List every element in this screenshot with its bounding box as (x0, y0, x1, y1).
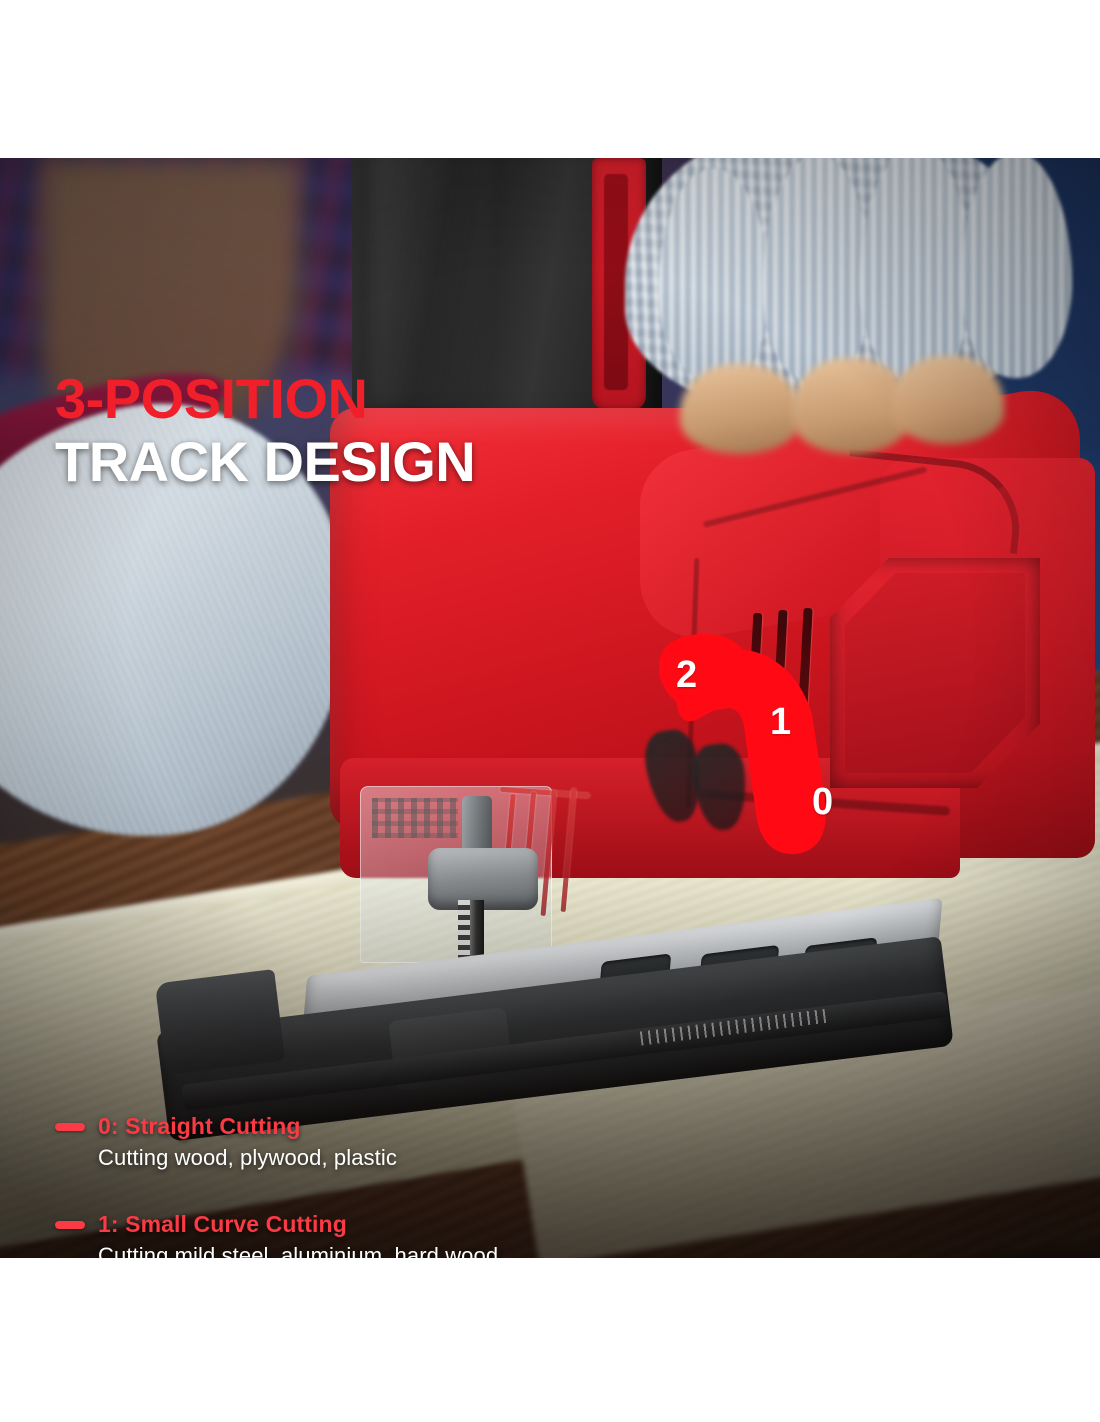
feature-item: 1: Small Curve Cutting Cutting mild stee… (55, 1211, 755, 1258)
feature-heading: 0: Straight Cutting (55, 1113, 755, 1140)
product-feature-image: 2 1 0 3-POSITION TRACK DESIGN 0: Straigh… (0, 0, 1100, 1422)
product-photo: 2 1 0 3-POSITION TRACK DESIGN 0: Straigh… (0, 158, 1100, 1258)
dash-bullet-icon (55, 1221, 85, 1229)
dial-position-1: 1 (770, 703, 791, 741)
dash-bullet-icon (55, 1123, 85, 1131)
feature-description: Cutting wood, plywood, plastic (98, 1145, 755, 1171)
headline-line-1: 3-POSITION (55, 370, 475, 427)
dial-position-2: 2 (676, 656, 697, 694)
dial-arc-icon (0, 158, 1100, 1258)
feature-list: 0: Straight Cutting Cutting wood, plywoo… (55, 1113, 755, 1258)
feature-title: 0: Straight Cutting (98, 1113, 301, 1140)
headline-line-2: TRACK DESIGN (55, 433, 475, 490)
feature-heading: 1: Small Curve Cutting (55, 1211, 755, 1238)
feature-item: 0: Straight Cutting Cutting wood, plywoo… (55, 1113, 755, 1171)
dial-position-0: 0 (812, 783, 833, 821)
feature-title: 1: Small Curve Cutting (98, 1211, 347, 1238)
feature-description: Cutting mild steel, aluminium, hard wood (98, 1243, 755, 1258)
headline-block: 3-POSITION TRACK DESIGN (55, 370, 475, 490)
orbital-dial-callout: 2 1 0 (0, 158, 1100, 1258)
